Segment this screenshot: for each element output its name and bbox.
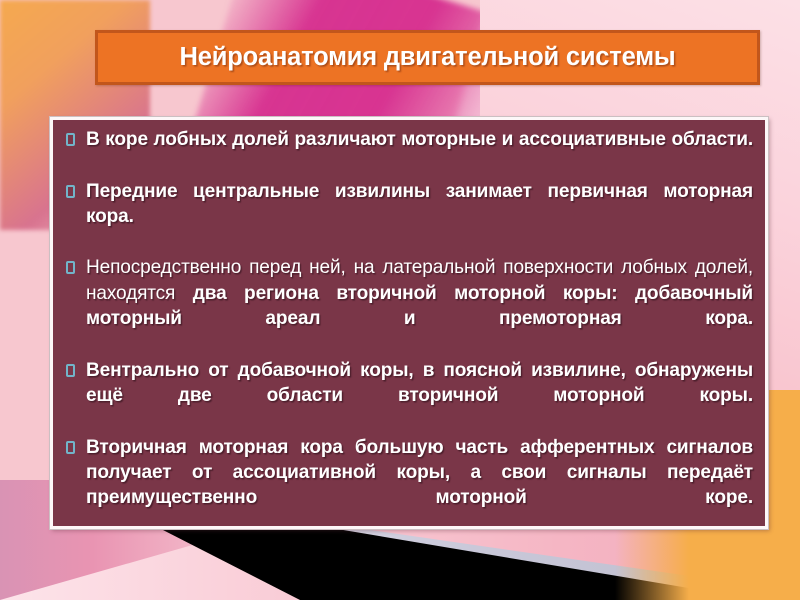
bullet-list: В коре лобных долей различают моторные и… (59, 127, 753, 536)
list-item: Вентрально от добавочной коры, в поясной… (59, 358, 753, 434)
slide-title-box: Нейроанатомия двигательной системы (95, 30, 760, 85)
bullet-text: Передние центральные извилины занимает п… (86, 181, 753, 253)
bullet-text: В коре лобных долей различают моторные и… (86, 129, 753, 175)
slide-content-box: В коре лобных долей различают моторные и… (50, 117, 768, 529)
hollow-square-bullet-icon (66, 185, 75, 198)
hollow-square-bullet-icon (66, 441, 75, 454)
hollow-square-bullet-icon (66, 133, 75, 146)
page-title: Нейроанатомия двигательной системы (180, 43, 676, 72)
bullet-text: Вторичная моторная кора большую часть аф… (86, 437, 753, 534)
hollow-square-bullet-icon (66, 261, 75, 274)
list-item: В коре лобных долей различают моторные и… (59, 127, 753, 178)
list-item: Вторичная моторная кора большую часть аф… (59, 435, 753, 536)
list-item: Передние центральные извилины занимает п… (59, 179, 753, 255)
presentation-slide: Нейроанатомия двигательной системы В кор… (0, 0, 800, 600)
hollow-square-bullet-icon (66, 364, 75, 377)
list-item: Непосредственно перед ней, на латерально… (59, 255, 753, 356)
bullet-text: Вентрально от добавочной коры, в поясной… (86, 360, 753, 432)
